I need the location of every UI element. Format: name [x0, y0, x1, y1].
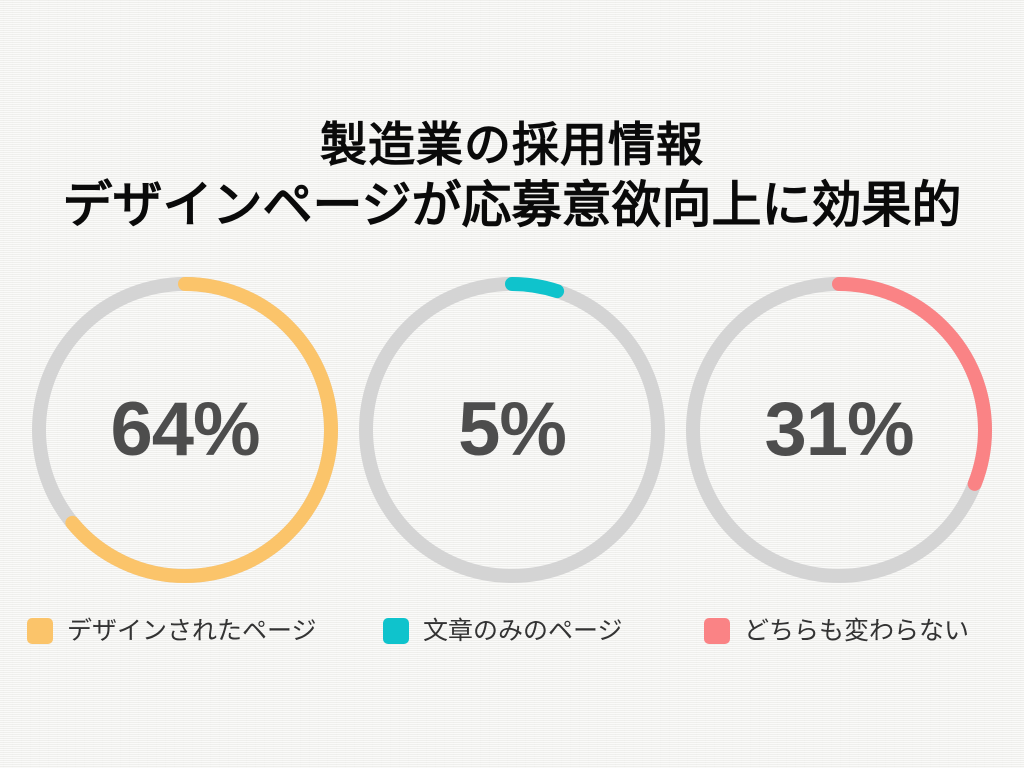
donut-value-designed: 64%	[32, 277, 338, 583]
donut-chart-designed: 64%	[32, 277, 338, 583]
infographic-page: 製造業の採用情報 デザインページが応募意欲向上に効果的 64% 5% 31%	[0, 0, 1024, 768]
donut-chart-row: 64% 5% 31%	[0, 277, 1024, 587]
legend-label-no-difference: どちらも変わらない	[744, 616, 969, 646]
donut-value-no-difference: 31%	[686, 277, 992, 583]
legend-item-text-only: 文章のみのページ	[383, 608, 623, 654]
legend-label-text-only: 文章のみのページ	[423, 616, 623, 646]
legend-item-designed: デザインされたページ	[27, 608, 317, 654]
legend-label-designed: デザインされたページ	[67, 616, 317, 646]
legend-swatch-icon-no-difference	[704, 618, 730, 644]
legend-swatch-icon-designed	[27, 618, 53, 644]
donut-value-text-only: 5%	[359, 277, 665, 583]
donut-chart-text-only: 5%	[359, 277, 665, 583]
legend-swatch-icon-text-only	[383, 618, 409, 644]
donut-chart-no-difference: 31%	[686, 277, 992, 583]
title-line-2: デザインページが応募意欲向上に効果的	[0, 174, 1024, 236]
title-line-1: 製造業の採用情報	[0, 116, 1024, 174]
page-title: 製造業の採用情報 デザインページが応募意欲向上に効果的	[0, 116, 1024, 236]
legend-item-no-difference: どちらも変わらない	[704, 608, 969, 654]
chart-legend: デザインされたページ 文章のみのページ どちらも変わらない	[0, 608, 1024, 654]
